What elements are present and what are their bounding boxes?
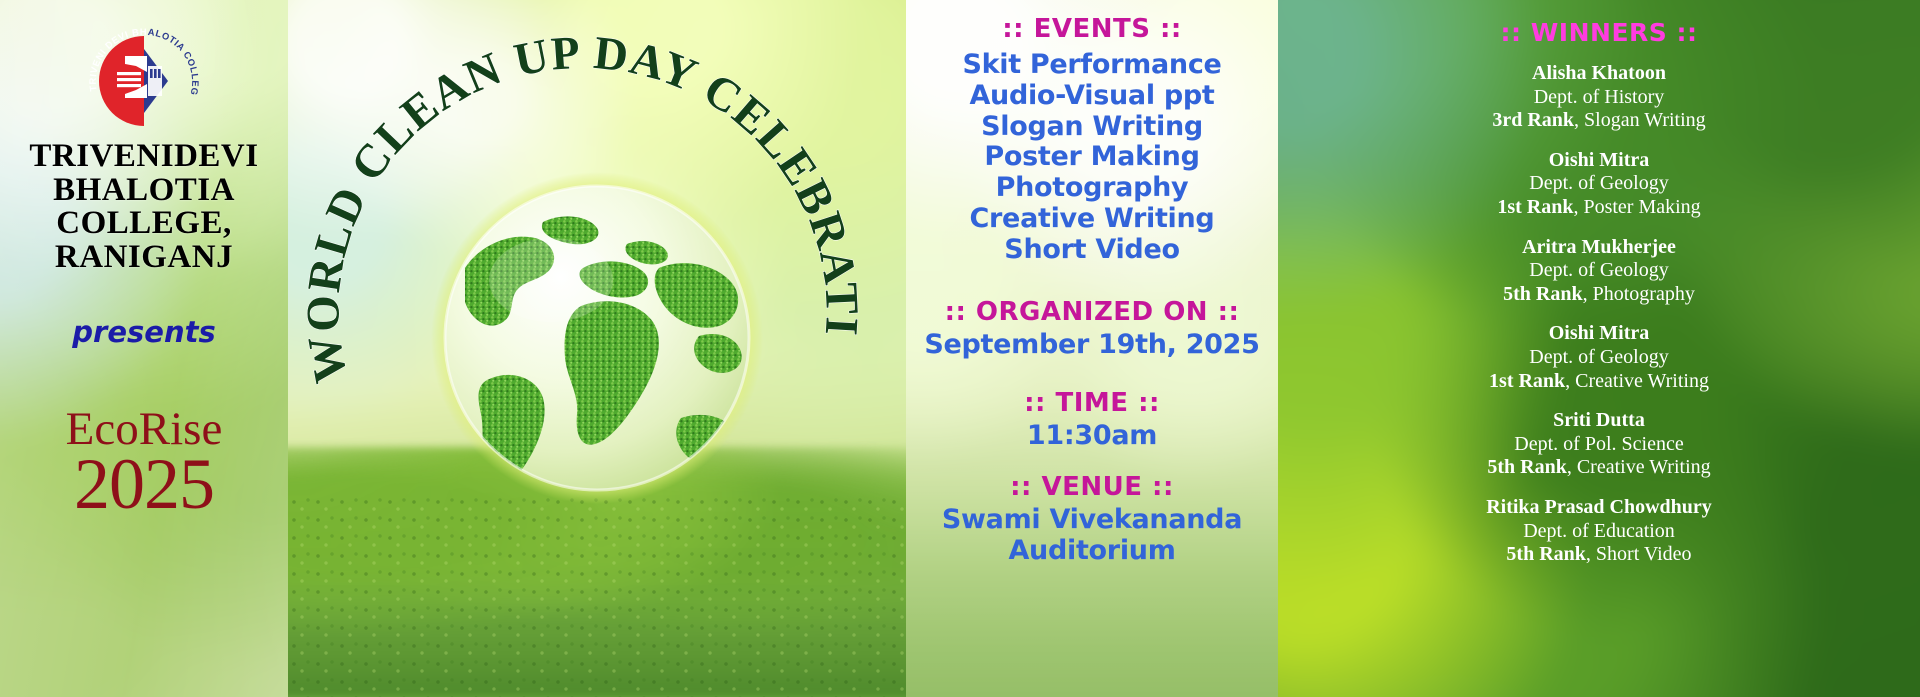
college-logo-icon: TRIVENI DEVI BH ALOTIA COLLEGE	[84, 22, 204, 140]
winner-card: Alisha KhatoonDept. of History3rd Rank, …	[1278, 62, 1920, 133]
college-name: TRIVENIDEVI BHALOTIA COLLEGE, RANIGANJ	[0, 140, 288, 275]
winners-heading: :: WINNERS ::	[1278, 0, 1920, 47]
winner-rank-and-event: 1st Rank, Poster Making	[1278, 196, 1920, 220]
winner-department: Dept. of Geology	[1278, 346, 1920, 370]
winner-card: Ritika Prasad ChowdhuryDept. of Educatio…	[1278, 496, 1920, 567]
event-item-creative-writing: Creative Writing	[906, 204, 1278, 235]
time-block: :: TIME :: 11:30am	[906, 388, 1278, 452]
winner-rank: 5th Rank	[1487, 456, 1566, 478]
event-item-skit: Skit Performance	[906, 50, 1278, 81]
event-brand: EcoRise 2025	[0, 408, 288, 517]
winner-rank: 5th Rank	[1506, 543, 1585, 565]
events-block: :: EVENTS :: Skit Performance Audio-Visu…	[906, 14, 1278, 265]
time-heading: :: TIME ::	[906, 388, 1278, 418]
winner-card: Oishi MitraDept. of Geology1st Rank, Pos…	[1278, 149, 1920, 220]
winner-department: Dept. of Geology	[1278, 259, 1920, 283]
winner-name: Aritra Mukherjee	[1278, 236, 1920, 260]
event-details-panel: :: EVENTS :: Skit Performance Audio-Visu…	[906, 0, 1278, 697]
organized-on-block: :: ORGANIZED ON :: September 19th, 2025	[906, 297, 1278, 361]
winners-panel: :: WINNERS :: Alisha KhatoonDept. of His…	[1278, 0, 1920, 697]
college-logo: TRIVENI DEVI BH ALOTIA COLLEGE	[84, 22, 204, 140]
winner-card: Aritra MukherjeeDept. of Geology5th Rank…	[1278, 236, 1920, 307]
event-item-audio-visual: Audio-Visual ppt	[906, 81, 1278, 112]
winner-department: Dept. of Geology	[1278, 172, 1920, 196]
winner-event: Creative Writing	[1575, 370, 1709, 392]
winner-name: Oishi Mitra	[1278, 322, 1920, 346]
venue-heading: :: VENUE ::	[906, 472, 1278, 502]
venue-block: :: VENUE :: Swami Vivekananda Auditorium	[906, 472, 1278, 567]
organized-on-date: September 19th, 2025	[906, 330, 1278, 361]
winner-event: Short Video	[1596, 543, 1692, 565]
winner-name: Alisha Khatoon	[1278, 62, 1920, 86]
winner-rank-and-event: 5th Rank, Creative Writing	[1278, 456, 1920, 480]
organized-on-heading: :: ORGANIZED ON ::	[906, 297, 1278, 327]
time-value: 11:30am	[906, 421, 1278, 452]
winner-rank: 1st Rank	[1497, 196, 1573, 218]
winner-rank-and-event: 1st Rank, Creative Writing	[1278, 370, 1920, 394]
winner-event: Slogan Writing	[1584, 109, 1706, 131]
college-name-line-1: TRIVENIDEVI	[0, 140, 288, 174]
winner-rank: 1st Rank	[1489, 370, 1565, 392]
venue-line-1: Swami Vivekananda	[906, 505, 1278, 536]
winner-rank: 5th Rank	[1503, 283, 1582, 305]
winner-department: Dept. of History	[1278, 86, 1920, 110]
presents-label: presents	[0, 315, 288, 349]
winner-event: Creative Writing	[1577, 456, 1711, 478]
winner-department: Dept. of Education	[1278, 520, 1920, 544]
college-identity-panel: TRIVENI DEVI BH ALOTIA COLLEGE TRIVENIDE…	[0, 0, 288, 697]
event-item-photography: Photography	[906, 173, 1278, 204]
arc-title: WORLD CLEAN UP DAY CELEBRATION	[297, 40, 897, 640]
winner-event: Photography	[1593, 283, 1695, 305]
venue-line-2: Auditorium	[906, 536, 1278, 567]
arc-title-text: WORLD CLEAN UP DAY CELEBRATION	[288, 0, 868, 387]
winner-card: Sriti DuttaDept. of Pol. Science5th Rank…	[1278, 409, 1920, 480]
event-item-slogan-writing: Slogan Writing	[906, 112, 1278, 143]
winner-department: Dept. of Pol. Science	[1278, 433, 1920, 457]
event-item-poster-making: Poster Making	[906, 142, 1278, 173]
winners-list: Alisha KhatoonDept. of History3rd Rank, …	[1278, 62, 1920, 567]
winner-rank-and-event: 5th Rank, Short Video	[1278, 543, 1920, 567]
globe-hero-panel: WORLD CLEAN UP DAY CELEBRATION	[288, 0, 906, 697]
winner-event: Poster Making	[1583, 196, 1700, 218]
winner-rank: 3rd Rank	[1492, 109, 1574, 131]
winner-card: Oishi MitraDept. of Geology1st Rank, Cre…	[1278, 322, 1920, 393]
events-heading: :: EVENTS ::	[906, 14, 1278, 44]
winner-name: Ritika Prasad Chowdhury	[1278, 496, 1920, 520]
world-clean-up-day-banner: TRIVENI DEVI BH ALOTIA COLLEGE TRIVENIDE…	[0, 0, 1920, 697]
college-name-line-2: BHALOTIA	[0, 174, 288, 208]
college-name-line-4: RANIGANJ	[0, 241, 288, 275]
winner-rank-and-event: 5th Rank, Photography	[1278, 283, 1920, 307]
college-name-line-3: COLLEGE,	[0, 207, 288, 241]
event-brand-year: 2025	[0, 451, 288, 517]
winner-rank-and-event: 3rd Rank, Slogan Writing	[1278, 109, 1920, 133]
event-item-short-video: Short Video	[906, 235, 1278, 266]
winner-name: Oishi Mitra	[1278, 149, 1920, 173]
winner-name: Sriti Dutta	[1278, 409, 1920, 433]
